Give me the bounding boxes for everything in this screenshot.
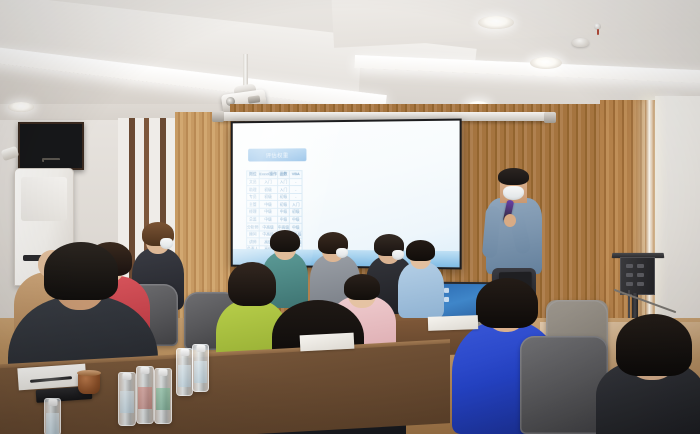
slide-table-cell: 中级: [277, 216, 289, 224]
slide-table-cell: 入门: [277, 186, 289, 194]
slide-table-cell: 中高级: [259, 223, 277, 231]
presenter-face-mask: [503, 186, 524, 200]
slide-table-cell: 中级: [259, 208, 277, 216]
slide-table-cell: 中级: [290, 216, 302, 224]
water-bottle: [176, 348, 193, 396]
slide-table-cell: 中级: [259, 201, 277, 209]
slide-table-cell: 初级: [259, 193, 277, 201]
slide-table-cell: 专员: [247, 193, 259, 200]
slide-table-cell: 分析师: [247, 223, 259, 231]
slide-table-cell: 初级: [290, 208, 302, 216]
slide-table-cell: -: [290, 178, 302, 186]
water-bottle: [154, 368, 172, 424]
presenter-hand: [504, 214, 516, 227]
slide-title-text: 评估权重: [266, 151, 289, 159]
slide-table-cell: 入门: [290, 201, 302, 209]
water-bottle: [118, 372, 136, 426]
slide-table-header-row: 岗位Excel操作函数VBA: [247, 171, 302, 179]
slide-table-cell: 文员: [247, 178, 259, 186]
slide-table-cell: -: [290, 193, 302, 201]
water-bottle: [44, 398, 61, 434]
smoke-detector-icon: [572, 38, 589, 47]
water-bottle: [136, 366, 154, 424]
slide-table-row: 文员入门入门-: [247, 178, 302, 186]
downlight-icon: [8, 102, 34, 112]
slide-table-cell: 讲师: [247, 238, 259, 246]
slide-table-cell: 中级: [277, 208, 289, 216]
roller-end-cap: [544, 112, 556, 123]
slide-title-banner: 评估权重: [248, 148, 306, 161]
ac-grille: [21, 177, 67, 221]
slide-table-cell: 初级: [277, 201, 289, 209]
water-bottle: [192, 344, 209, 392]
slide-table-row: 专员初级初级-: [247, 193, 302, 201]
slide-table-cell: 经理: [247, 208, 259, 216]
slide-table-header-cell: Excel操作: [259, 171, 277, 179]
downlight-icon: [478, 16, 514, 29]
roller-end-cap: [212, 111, 224, 122]
open-notebook: [300, 333, 355, 352]
slide-table-cell: 主管: [247, 201, 259, 208]
slide-table-row: 助理初级入门-: [247, 186, 302, 194]
meeting-room-photo: 评估权重 岗位Excel操作函数VBA 文员入门入门-助理初级入门-专员初级初级…: [0, 0, 700, 434]
slide-table-header-cell: 函数: [277, 171, 289, 179]
slide-table-cell: 助理: [247, 186, 259, 193]
office-chair: [520, 336, 608, 434]
projector-mount-pole: [243, 54, 248, 88]
wall-light-slot: [645, 100, 654, 350]
slide-table-cell: 顾问: [247, 231, 259, 239]
fire-sprinkler-icon: [594, 23, 601, 30]
presenter-hair: [498, 168, 529, 185]
slide-table-cell: 入门: [277, 178, 289, 186]
open-notebook: [428, 315, 478, 331]
lectern-podium: [620, 257, 655, 295]
slide-table-cell: 中级: [259, 216, 277, 224]
slide-table-header-cell: 岗位: [247, 171, 259, 179]
slide-table-row: 主管中级初级入门: [247, 201, 302, 209]
ceramic-tea-cup: [78, 372, 100, 394]
slide-table-cell: 中级: [290, 223, 302, 231]
slide-table-cell: 初级: [259, 186, 277, 194]
slide-table-cell: -: [290, 186, 302, 194]
slide-table-header-cell: VBA: [290, 171, 302, 179]
slide-table-cell: 初级: [277, 193, 289, 201]
slide-table-cell: 总监: [247, 216, 259, 224]
slide-table-cell: 入门: [259, 178, 277, 186]
downlight-icon: [530, 57, 562, 69]
